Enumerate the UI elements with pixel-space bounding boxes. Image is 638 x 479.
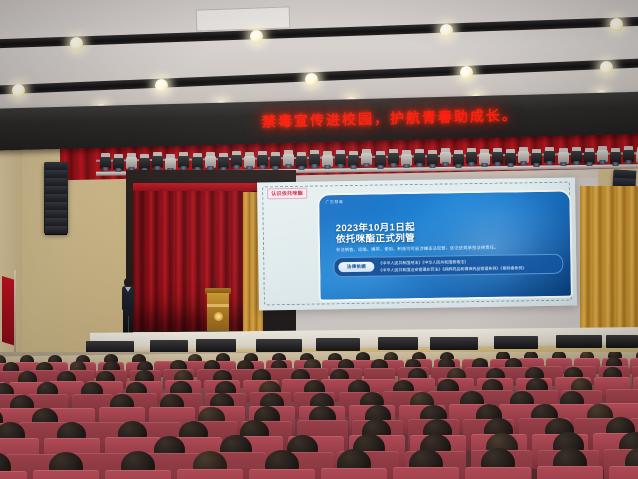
light-lens bbox=[520, 161, 527, 165]
light-lens bbox=[259, 165, 266, 169]
presentation-slide: 广东禁毒 2023年10月1日起 依托咪酯正式列管 非法销售、运输、携带、使用、… bbox=[317, 190, 573, 302]
auditorium-seat bbox=[249, 469, 315, 479]
line-array-speaker-left bbox=[44, 162, 68, 234]
stage-monitor-speaker bbox=[196, 339, 236, 352]
light-lens bbox=[560, 162, 567, 166]
light-lens bbox=[625, 160, 632, 164]
light-lens bbox=[429, 164, 436, 168]
stage-light-fixture bbox=[453, 150, 464, 169]
ceiling-beam bbox=[0, 58, 638, 95]
light-lens bbox=[403, 164, 410, 168]
light-lens bbox=[494, 162, 501, 166]
stage-monitor-speaker bbox=[430, 337, 478, 350]
light-lens bbox=[207, 166, 214, 170]
speaker-cabinet bbox=[45, 226, 67, 235]
stage-light-fixture bbox=[283, 150, 294, 169]
stage-light-fixture bbox=[401, 150, 412, 169]
stage-monitor-speaker bbox=[494, 336, 538, 349]
stage-light-fixture bbox=[100, 153, 111, 172]
presenter-on-stage bbox=[120, 278, 136, 334]
stage-light-fixture bbox=[505, 149, 516, 168]
light-lens bbox=[442, 162, 449, 166]
light-lens bbox=[546, 161, 553, 165]
audience-area bbox=[0, 352, 638, 479]
ceiling-spot-light bbox=[610, 18, 623, 31]
stage-light-fixture bbox=[479, 149, 490, 168]
stage-light-fixture bbox=[597, 146, 608, 165]
auditorium-photo: 禁毒宣传进校园，护航青春助成长。 认识依托咪酯 广东禁毒 2023年10月1日起… bbox=[0, 0, 638, 479]
stage-light-fixture bbox=[270, 152, 281, 171]
light-lens bbox=[599, 160, 606, 164]
stage-light-fixture bbox=[244, 152, 255, 171]
stage-light-fixture bbox=[558, 148, 569, 167]
slide-brand-logo: 广东禁毒 bbox=[325, 199, 343, 205]
ceiling-spot-light bbox=[155, 79, 168, 92]
stage-light-fixture bbox=[152, 152, 163, 171]
stage-light-fixture bbox=[440, 148, 451, 167]
presenter-leg-gap bbox=[128, 316, 130, 334]
light-lens bbox=[311, 164, 318, 168]
slide-legal-basis-bar: 法律依据 《中华人民共和国刑法》《中华人民共和国禁毒法》 《中华人民共和国治安管… bbox=[333, 254, 563, 278]
ceiling-spot-light bbox=[460, 66, 473, 79]
light-lens bbox=[455, 164, 462, 168]
flag-pole bbox=[14, 270, 16, 358]
stage-light-fixture bbox=[544, 147, 555, 166]
light-lens bbox=[416, 163, 423, 167]
slide-background: 广东禁毒 2023年10月1日起 依托咪酯正式列管 非法销售、运输、携带、使用、… bbox=[319, 192, 571, 300]
stage-light-fixture bbox=[518, 147, 529, 166]
stage-monitor-speaker bbox=[316, 338, 360, 351]
stage-light-fixture bbox=[584, 148, 595, 167]
light-lens bbox=[298, 166, 305, 170]
light-lens bbox=[350, 165, 357, 169]
podium-trim bbox=[207, 304, 229, 307]
ceiling-vent bbox=[196, 6, 291, 31]
wooden-podium bbox=[205, 288, 231, 332]
ceiling-spot-light bbox=[440, 24, 453, 37]
stage-light-fixture bbox=[178, 152, 189, 171]
light-lens bbox=[586, 162, 593, 166]
auditorium-seat bbox=[465, 467, 531, 479]
stage-light-fixture bbox=[388, 149, 399, 168]
red-stage-curtain bbox=[133, 183, 257, 331]
stage-light-fixture bbox=[414, 149, 425, 168]
light-lens bbox=[481, 163, 488, 167]
stage-light-fixture bbox=[427, 150, 438, 169]
stage-light-fixture bbox=[309, 150, 320, 169]
ceiling-spot-light bbox=[12, 84, 25, 97]
light-lens bbox=[468, 162, 475, 166]
stage-light-fixture bbox=[531, 149, 542, 168]
ceiling-spot-light bbox=[600, 61, 613, 74]
auditorium-seat bbox=[0, 471, 27, 479]
ceiling-spot-light bbox=[70, 37, 83, 50]
legal-basis-badge: 法律依据 bbox=[338, 262, 374, 273]
light-lens bbox=[612, 162, 619, 166]
auditorium-seat bbox=[321, 468, 387, 479]
auditorium-seat bbox=[537, 466, 603, 479]
auditorium-seat bbox=[177, 469, 243, 479]
stage-light-fixture bbox=[623, 146, 634, 165]
ceiling-spot-light bbox=[305, 73, 318, 86]
auditorium-seat bbox=[33, 470, 99, 479]
stage-light-fixture bbox=[205, 152, 216, 171]
light-lens bbox=[377, 165, 384, 169]
auditorium-seat bbox=[393, 467, 459, 479]
stage-light-fixture bbox=[257, 151, 268, 170]
stage-light-fixture bbox=[348, 151, 359, 170]
stage-light-fixture bbox=[296, 152, 307, 171]
projection-screen: 认识依托咪酯 广东禁毒 2023年10月1日起 依托咪酯正式列管 非法销售、运输… bbox=[257, 178, 577, 311]
slide-headline-line2: 依托咪酯正式列管 bbox=[336, 233, 415, 245]
stage-light-fixture bbox=[231, 151, 242, 170]
legal-reference-line2: 《中华人民共和国治安管理处罚法》《麻醉药品和精神药品管理条例》《易制毒条例》 bbox=[378, 265, 526, 273]
screen-corner-label: 认识依托咪酯 bbox=[267, 188, 307, 200]
stage-light-fixture bbox=[466, 148, 477, 167]
light-lens bbox=[233, 165, 240, 169]
stage-monitor-speaker bbox=[606, 335, 638, 348]
light-lens bbox=[390, 163, 397, 167]
light-lens bbox=[573, 161, 580, 165]
stage-light-fixture bbox=[335, 150, 346, 169]
gold-curtain-right bbox=[580, 186, 638, 338]
auditorium-seat bbox=[105, 470, 171, 479]
stage-light-fixture bbox=[126, 153, 137, 172]
light-lens bbox=[102, 167, 109, 171]
stage-monitor-speaker bbox=[256, 339, 302, 352]
stage-light-fixture bbox=[375, 151, 386, 170]
stage-light-fixture bbox=[492, 148, 503, 167]
stage-light-fixture bbox=[113, 154, 124, 173]
light-lens bbox=[324, 165, 331, 169]
stage-light-fixture bbox=[218, 153, 229, 172]
stage-light-fixture bbox=[322, 151, 333, 170]
ceiling-spot-light bbox=[250, 30, 263, 43]
stage-light-fixture bbox=[571, 147, 582, 166]
light-lens bbox=[337, 164, 344, 168]
light-lens bbox=[285, 164, 292, 168]
stage-monitor-speaker bbox=[378, 337, 418, 350]
light-lens bbox=[507, 163, 514, 167]
podium-emblem bbox=[214, 312, 223, 321]
stage-light-fixture bbox=[361, 149, 372, 168]
light-lens bbox=[533, 163, 540, 167]
ceiling-beam bbox=[0, 16, 638, 48]
led-banner-text: 禁毒宣传进校园，护航青春助成长。 bbox=[230, 104, 550, 132]
light-lens bbox=[363, 163, 370, 167]
stage-light-fixture bbox=[610, 148, 621, 167]
light-lens bbox=[115, 168, 122, 172]
stage-monitor-speaker bbox=[556, 335, 602, 348]
auditorium-seat bbox=[609, 466, 638, 479]
